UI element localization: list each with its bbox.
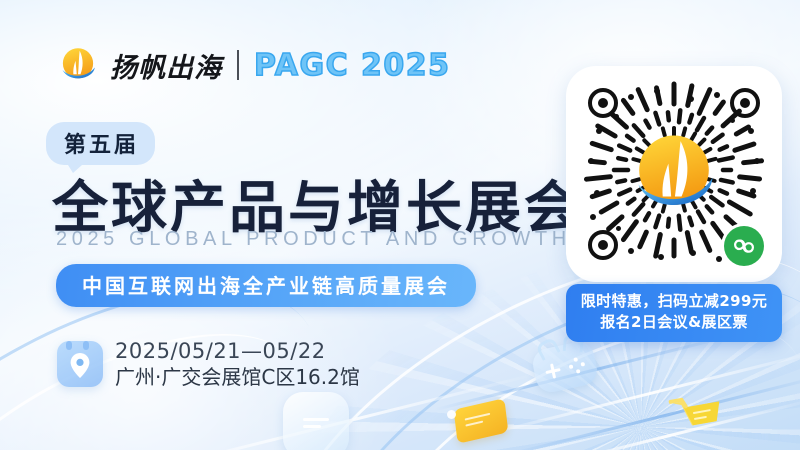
edition-badge-wrap: 第五届 bbox=[46, 122, 155, 165]
event-info: 2025/05/21—05/22 广州·广交会展馆C区16.2馆 bbox=[57, 339, 360, 390]
logo-divider bbox=[237, 50, 239, 80]
brand-logo-row: 扬帆出海 PAGC 2025 bbox=[57, 44, 451, 86]
gamepad-buttons bbox=[567, 356, 587, 376]
shopping-cart-icon bbox=[668, 389, 732, 449]
promo-banner: 扬帆出海 PAGC 2025 第五届 全球产品与增长展会 2025 GLOBAL… bbox=[0, 0, 800, 450]
chat-bubble-icon bbox=[283, 392, 349, 450]
brand-name-en: PAGC 2025 bbox=[254, 48, 451, 83]
tagline-pill: 中国互联网出海全产业链高质量展会 bbox=[56, 264, 476, 307]
background-streak-1 bbox=[475, 348, 800, 438]
event-date: 2025/05/21—05/22 bbox=[115, 339, 360, 365]
background-streak-4 bbox=[434, 336, 726, 411]
event-info-text: 2025/05/21—05/22 广州·广交会展馆C区16.2馆 bbox=[115, 339, 360, 390]
brand-name-cn: 扬帆出海 bbox=[110, 46, 222, 85]
promo-line-1: 限时特惠，扫码立减299元 bbox=[572, 291, 776, 312]
background-arc-4 bbox=[0, 222, 366, 450]
location-pin-icon bbox=[57, 341, 103, 387]
background-streak-3 bbox=[524, 398, 800, 450]
yellow-box-icon bbox=[454, 398, 509, 444]
gamepad-dpad bbox=[544, 362, 562, 380]
background-streak-2 bbox=[505, 374, 800, 450]
qr-code-card[interactable] bbox=[566, 66, 782, 282]
gamepad-icon bbox=[530, 339, 600, 395]
qr-center-logo-icon bbox=[627, 127, 721, 221]
promo-box[interactable]: 限时特惠，扫码立减299元 报名2日会议&展区票 bbox=[566, 284, 782, 342]
chat-bubble-lines bbox=[303, 418, 329, 432]
wechat-miniprogram-icon bbox=[724, 226, 764, 266]
promo-line-2: 报名2日会议&展区票 bbox=[572, 312, 776, 333]
edition-badge: 第五届 bbox=[46, 122, 155, 165]
white-dot-decor bbox=[447, 410, 456, 419]
event-venue: 广州·广交会展馆C区16.2馆 bbox=[115, 365, 360, 390]
sailboat-sun-logo-icon bbox=[57, 44, 99, 86]
